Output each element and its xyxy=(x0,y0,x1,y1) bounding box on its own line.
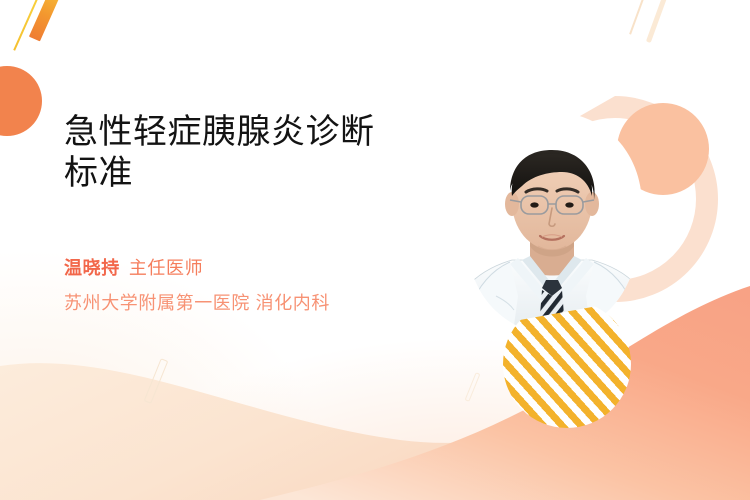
speaker-byline: 温晓持主任医师 苏州大学附属第一医院 消化内科 xyxy=(64,253,444,318)
speaker-affiliation: 苏州大学附属第一医院 消化内科 xyxy=(64,288,444,319)
top-right-thick-stripe-icon xyxy=(646,0,671,43)
speaker-rank: 主任医师 xyxy=(129,258,203,278)
lecture-cover-card: 急性轻症胰腺炎诊断标准 温晓持主任医师 苏州大学附属第一医院 消化内科 xyxy=(0,0,750,500)
top-right-thin-stripe-icon xyxy=(629,0,651,35)
text-block: 急性轻症胰腺炎诊断标准 温晓持主任医师 苏州大学附属第一医院 消化内科 xyxy=(64,112,444,318)
doctor-portrait xyxy=(452,110,652,340)
speaker-name: 温晓持 xyxy=(64,258,120,278)
left-orange-circle-icon xyxy=(0,66,42,136)
page-title: 急性轻症胰腺炎诊断标准 xyxy=(64,112,404,195)
